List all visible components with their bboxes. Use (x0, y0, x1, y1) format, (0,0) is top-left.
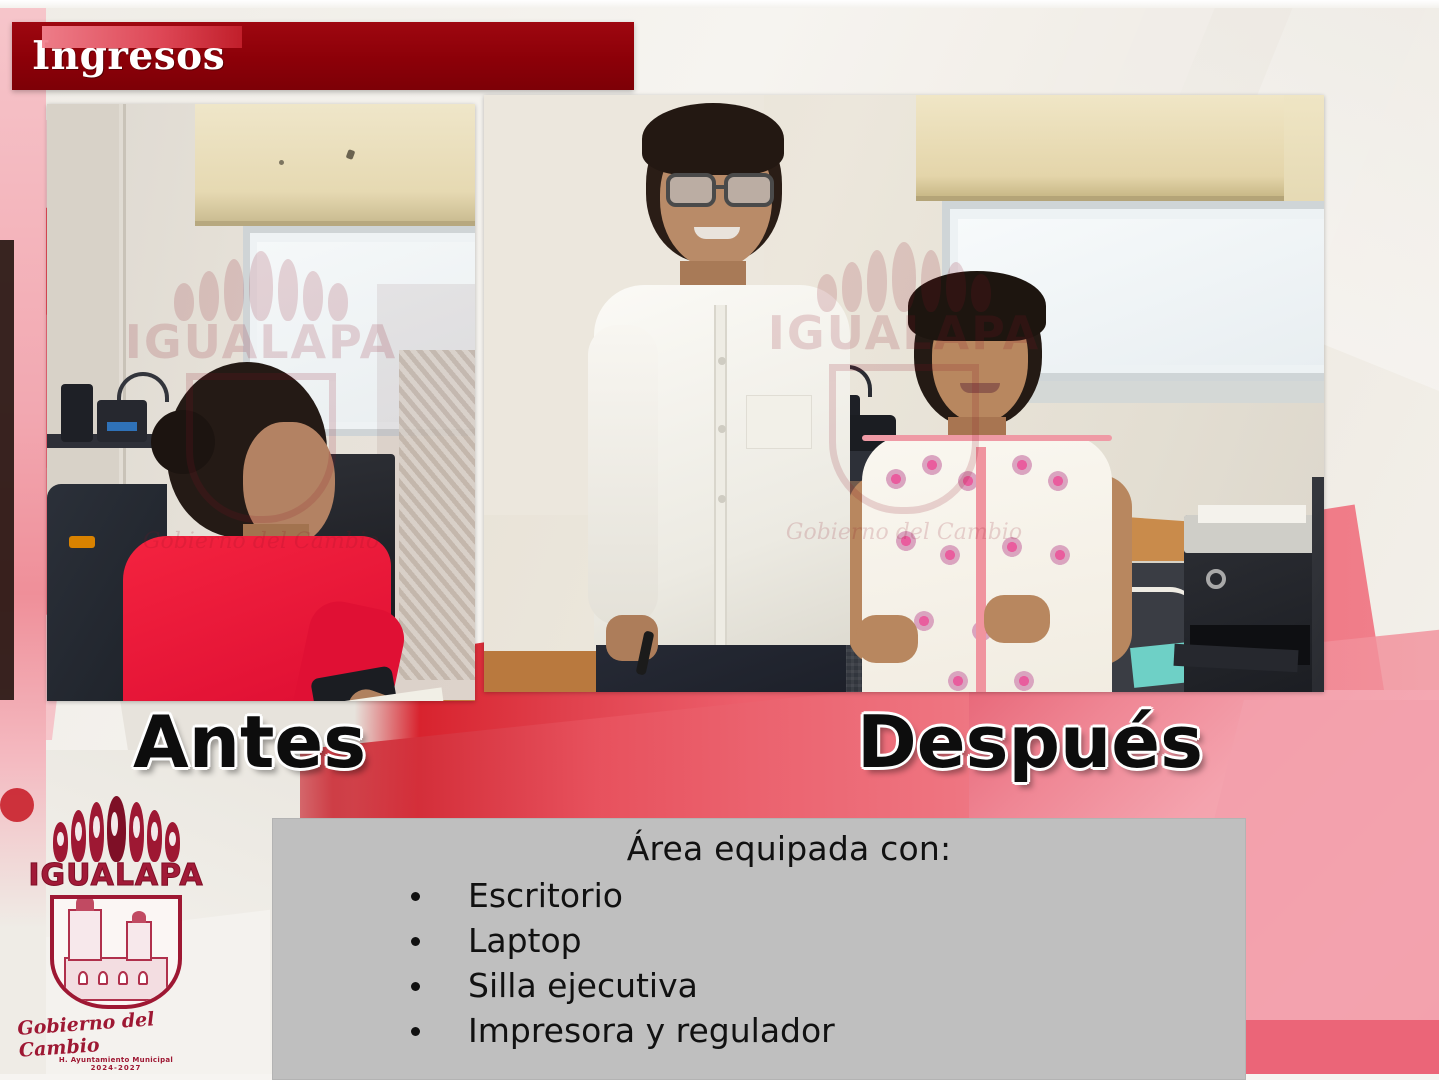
logo-shield-icon (50, 895, 182, 1009)
church-dome-right-icon (132, 911, 146, 923)
desk-left-section (484, 651, 614, 692)
logo-feathers-icon (53, 796, 180, 862)
label-after: Después (857, 700, 1203, 784)
woman-hand-left (856, 615, 918, 663)
phone-base (97, 400, 147, 442)
photo-before: IGUALAPA Gobierno del Cambio (47, 104, 475, 701)
list-item-label: Laptop (468, 919, 582, 964)
church-dome-left-icon (76, 895, 94, 911)
list-item: Impresora y regulador (411, 1009, 1245, 1054)
blouse-placket (976, 447, 986, 692)
woman-hair (908, 271, 1046, 341)
eyeglasses-left-lens (666, 173, 716, 207)
photo-after: Lenovo (484, 95, 1324, 692)
label-before: Antes (133, 700, 366, 784)
decor-edge-top (0, 0, 1439, 8)
church-tower-right-icon (126, 921, 152, 961)
blouse-neck-trim (862, 435, 1112, 441)
shirt-pocket (746, 395, 812, 449)
shirt-placket (714, 305, 727, 645)
list-item-label: Impresora y regulador (468, 1009, 835, 1054)
man-hair (642, 103, 784, 175)
shirt-button-3 (718, 495, 726, 503)
slide-canvas: Ingresos (0, 0, 1439, 1080)
wall-seam (123, 104, 126, 534)
banner-accent-stripe (42, 26, 242, 48)
bullet-icon (411, 892, 420, 901)
desk-phone (61, 384, 93, 442)
window-blind-after (916, 95, 1316, 201)
bullet-icon (411, 982, 420, 991)
blind-stain-2 (279, 160, 284, 165)
person-background-patterned (399, 350, 475, 680)
list-item-label: Escritorio (468, 874, 623, 919)
church-tower-left-icon (68, 909, 102, 961)
municipal-logo: IGUALAPA Gobierno del Cambio H. Ayuntami… (18, 796, 214, 1072)
list-item-label: Silla ejecutiva (468, 964, 698, 1009)
printer-power-button (1206, 569, 1226, 589)
eyeglasses-right-lens (724, 173, 774, 207)
woman-hand-right (984, 595, 1050, 643)
woman-smile (960, 383, 1000, 393)
title-banner: Ingresos (12, 22, 634, 90)
eyeglasses-bridge (714, 185, 728, 189)
photo-after-scene: Lenovo (484, 95, 1324, 692)
list-item: Silla ejecutiva (411, 964, 1245, 1009)
chair-logo (69, 536, 95, 548)
window-blind (195, 104, 475, 226)
infobox-heading: Área equipada con: (273, 829, 1245, 868)
decor-dark-band-left (0, 240, 14, 700)
equipment-list: Escritorio Laptop Silla ejecutiva Impres… (273, 874, 1245, 1054)
shirt-button-2 (718, 425, 726, 433)
logo-years: 2024-2027 (91, 1064, 142, 1072)
bullet-icon (411, 937, 420, 946)
man-arm-left (588, 325, 658, 625)
shirt-button-1 (718, 357, 726, 365)
church-body-icon (64, 957, 168, 1001)
logo-slogan: Gobierno del Cambio (17, 1004, 216, 1062)
phone-label (107, 422, 137, 431)
man-smile (694, 227, 740, 239)
person-hair-bun (151, 410, 215, 474)
equipment-infobox: Área equipada con: Escritorio Laptop Sil… (272, 818, 1246, 1080)
list-item: Escritorio (411, 874, 1245, 919)
laptop (1312, 477, 1324, 692)
logo-name: IGUALAPA (28, 858, 203, 893)
list-item: Laptop (411, 919, 1245, 964)
printer-paper (1198, 505, 1306, 523)
bullet-icon (411, 1027, 420, 1036)
photo-before-scene: IGUALAPA Gobierno del Cambio (47, 104, 475, 701)
